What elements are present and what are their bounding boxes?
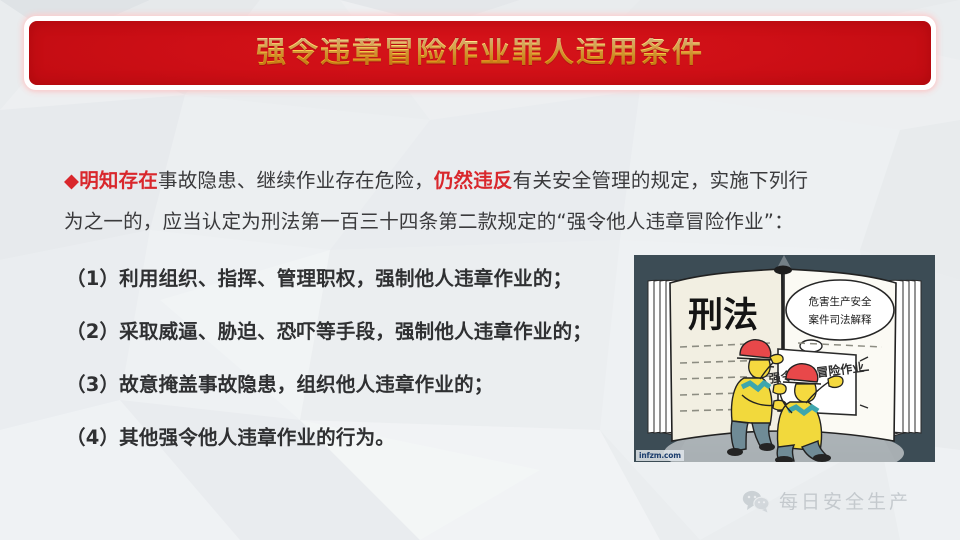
intro-highlight-1: 明知存在 (79, 169, 158, 192)
illustration-book-title: 刑法 (688, 296, 758, 336)
intro-paragraph-line-2: 为之一的，应当认定为刑法第一百三十四条第二款规定的“强令他人违章冒险作业”： (64, 201, 894, 242)
page-title: 强令违章冒险作业罪人适用条件 (256, 38, 704, 68)
wechat-icon (742, 489, 770, 513)
channel-watermark: 每日安全生产 (742, 487, 911, 514)
source-watermark-badge: infzm.com (636, 450, 684, 461)
title-banner: 强令违章冒险作业罪人适用条件 (29, 21, 931, 85)
intro-text-1: 事故隐患、继续作业存在危险， (158, 169, 434, 192)
law-book-illustration-graphic: 刑法 危害生产安全 案件司法解释 强令违章冒险作业 (634, 255, 935, 462)
list-item: （3）故意掩盖事故隐患，组织他人违章作业的； (66, 358, 646, 411)
intro-highlight-2: 仍然违反 (434, 169, 513, 192)
list-item: （1）利用组织、指挥、管理职权，强制他人违章作业的； (66, 252, 646, 305)
intro-text-2: 有关安全管理的规定，实施下列行 (513, 169, 809, 192)
diamond-bullet-icon: ◆ (64, 169, 79, 192)
condition-list: （1）利用组织、指挥、管理职权，强制他人违章作业的； （2）采取威逼、胁迫、恐吓… (66, 252, 646, 464)
illustration-bubble-line-2: 案件司法解释 (809, 313, 872, 326)
list-item: （4）其他强令他人违章作业的行为。 (66, 411, 646, 464)
law-book-illustration: 刑法 危害生产安全 案件司法解释 强令违章冒险作业 (634, 255, 935, 462)
intro-paragraph-line-1: ◆明知存在事故隐患、继续作业存在危险，仍然违反有关安全管理的规定，实施下列行 (64, 160, 894, 201)
slide-canvas: 强令违章冒险作业罪人适用条件 ◆明知存在事故隐患、继续作业存在危险，仍然违反有关… (0, 0, 960, 540)
list-item: （2）采取威逼、胁迫、恐吓等手段，强制他人违章作业的； (66, 305, 646, 358)
channel-watermark-label: 每日安全生产 (779, 487, 911, 514)
intro-paragraph: ◆明知存在事故隐患、继续作业存在危险，仍然违反有关安全管理的规定，实施下列行 为… (64, 160, 894, 242)
illustration-bubble-line-1: 危害生产安全 (809, 295, 872, 308)
